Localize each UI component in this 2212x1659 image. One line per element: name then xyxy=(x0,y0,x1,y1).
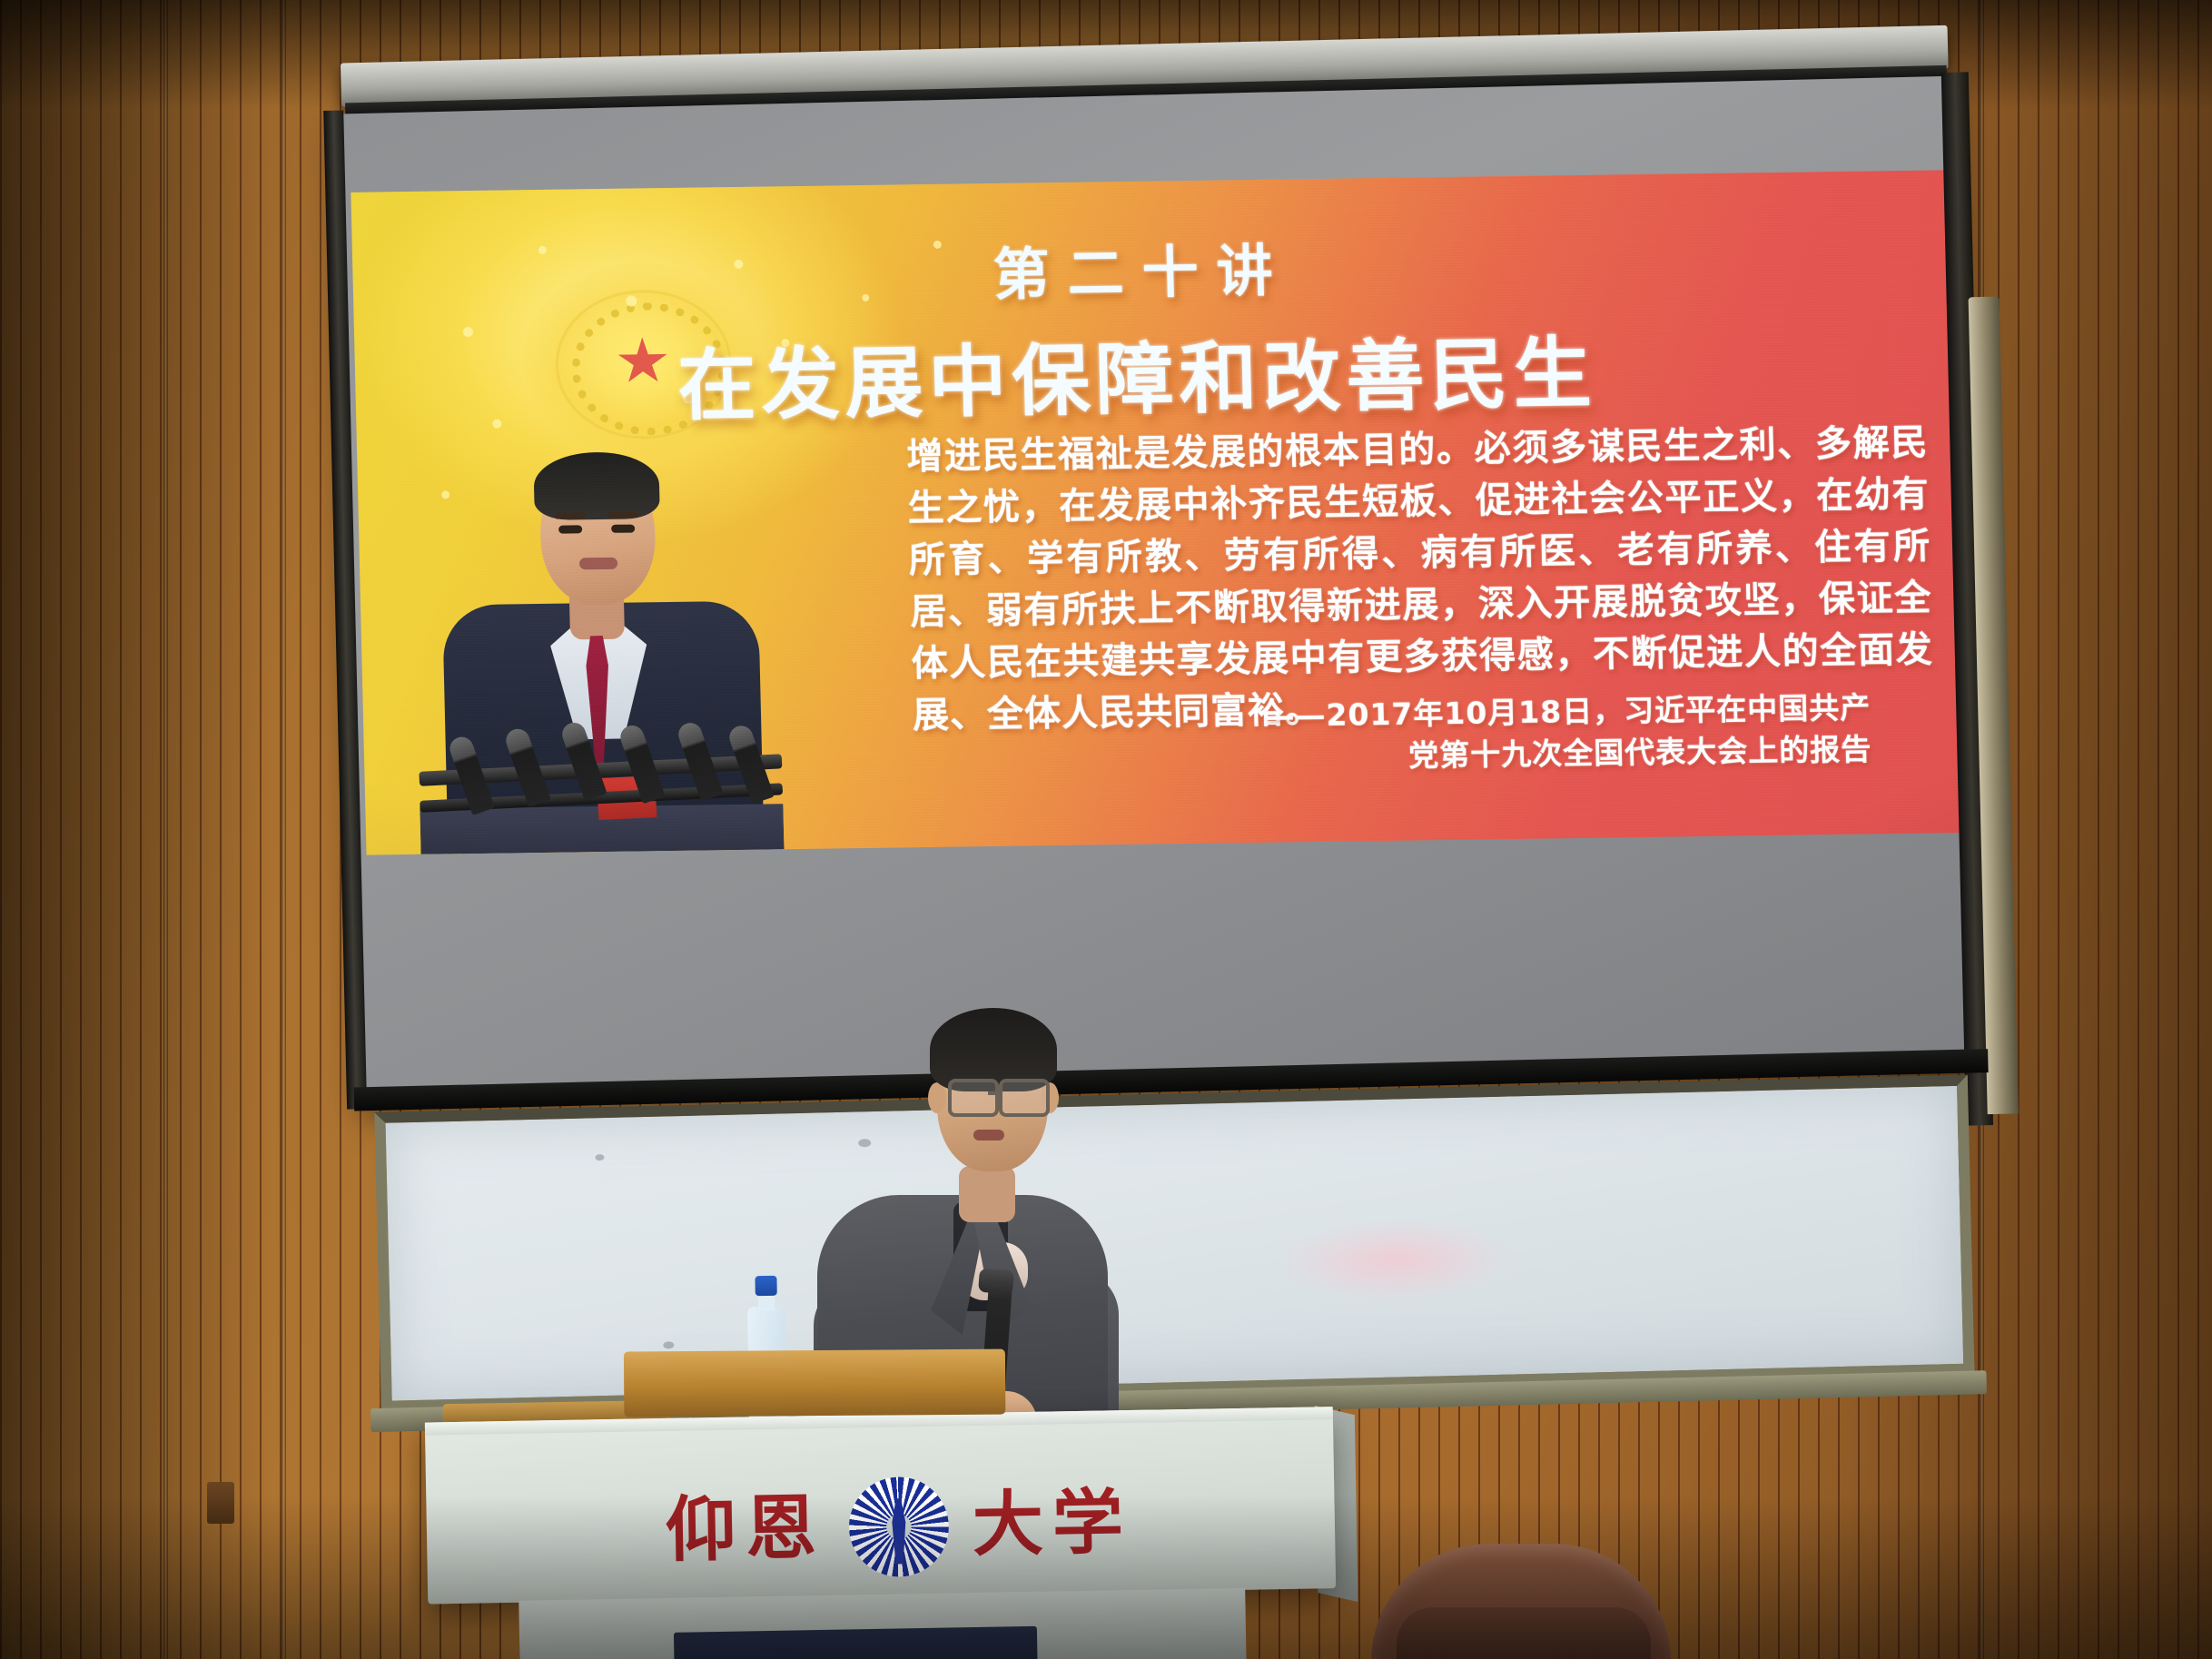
projected-slide: 第二十讲 在发展中保障和改善民生 增进民生福祉是发展的根本目的。必须多谋民生之利… xyxy=(351,170,1964,854)
projection-screen-surface: 第二十讲 在发展中保障和改善民生 增进民生福祉是发展的根本目的。必须多谋民生之利… xyxy=(340,76,1977,1104)
eyeglasses-icon xyxy=(999,1079,1050,1117)
lectern-wooden-top xyxy=(624,1349,1005,1417)
eyeglasses-icon xyxy=(948,1079,999,1117)
lecture-hall-photo: 第二十讲 在发展中保障和改善民生 增进民生福祉是发展的根本目的。必须多谋民生之利… xyxy=(0,0,2212,1659)
projection-screen-assembly: 第二十讲 在发展中保障和改善民生 增进民生福祉是发展的根本目的。必须多谋民生之利… xyxy=(322,23,2070,1425)
floor-shadow xyxy=(0,1496,2212,1659)
projector-spill-light xyxy=(1276,1216,1514,1303)
whiteboard xyxy=(374,1075,1974,1412)
wall-shadow-left xyxy=(0,0,272,1659)
bottle-cap xyxy=(755,1276,776,1296)
wall-seam xyxy=(281,0,286,1659)
